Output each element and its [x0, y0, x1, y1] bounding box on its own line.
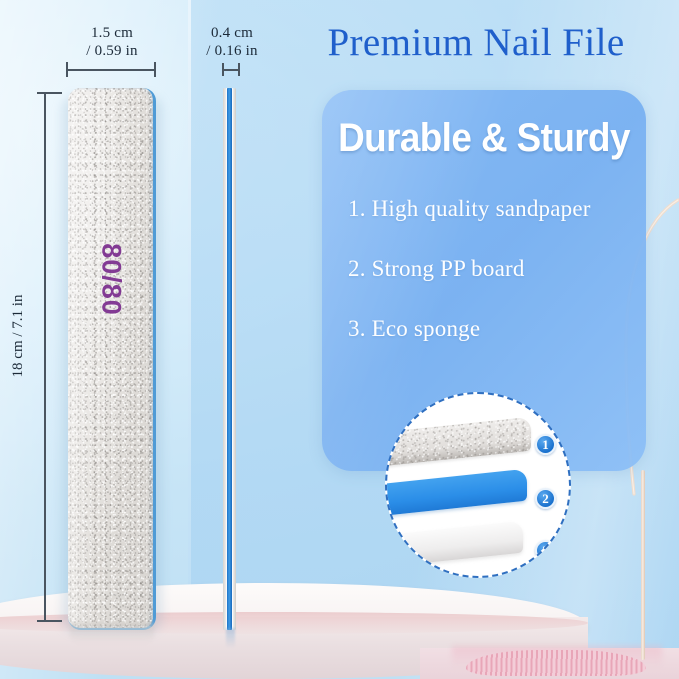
length-measure-cap-bottom — [37, 620, 62, 622]
length-measure-bar — [44, 92, 46, 622]
length-dimension-label: 18 cm / 7.1 in — [9, 295, 27, 378]
edge-sandpaper-right — [233, 88, 236, 630]
width-dimension-cm: 1.5 cm — [62, 24, 162, 42]
layer-badge-3: 3 — [535, 540, 556, 561]
dried-stem-lower — [641, 470, 645, 660]
thickness-measure-cap-right — [238, 63, 240, 76]
panel-heading: Durable & Sturdy — [335, 116, 633, 161]
thickness-measure-bar — [222, 69, 239, 71]
feature-item-3: 3. Eco sponge — [348, 316, 640, 342]
nail-file-grit-texture-fine — [68, 88, 153, 628]
thickness-measure-cap-left — [222, 63, 224, 76]
width-measure-bar — [66, 69, 156, 71]
width-measure-cap-left — [66, 62, 68, 77]
grit-number-label: 80/80 — [95, 243, 126, 316]
layer-breakdown-inset: 1 2 3 — [385, 392, 571, 578]
nail-file-reflection — [70, 622, 154, 644]
feature-item-1: 1. High quality sandpaper — [348, 196, 640, 222]
sandpaper-layer — [385, 417, 531, 470]
edge-reflection — [226, 628, 235, 648]
layer-badge-2: 2 — [535, 488, 556, 509]
thickness-dimension-label: 0.4 cm / 0.16 in — [192, 24, 272, 61]
width-dimension-in: / 0.59 in — [62, 42, 162, 60]
page-title: Premium Nail File — [276, 20, 676, 65]
width-measure-cap-right — [154, 62, 156, 77]
sponge-layer — [385, 521, 523, 572]
feature-item-2: 2. Strong PP board — [348, 256, 640, 282]
pp-board-layer — [385, 469, 527, 520]
nail-file-front: 80/80 — [68, 88, 156, 630]
length-measure-cap-top — [37, 92, 62, 94]
layer-badge-1: 1 — [535, 434, 556, 455]
sandpaper-texture — [385, 417, 531, 470]
nail-file-edge-view — [222, 88, 238, 630]
thickness-dimension-in: / 0.16 in — [192, 42, 272, 60]
pink-fringe-decor — [466, 650, 646, 676]
thickness-dimension-cm: 0.4 cm — [192, 24, 272, 42]
product-infographic: Premium Nail File Durable & Sturdy 1. Hi… — [0, 0, 679, 679]
width-dimension-label: 1.5 cm / 0.59 in — [62, 24, 162, 61]
